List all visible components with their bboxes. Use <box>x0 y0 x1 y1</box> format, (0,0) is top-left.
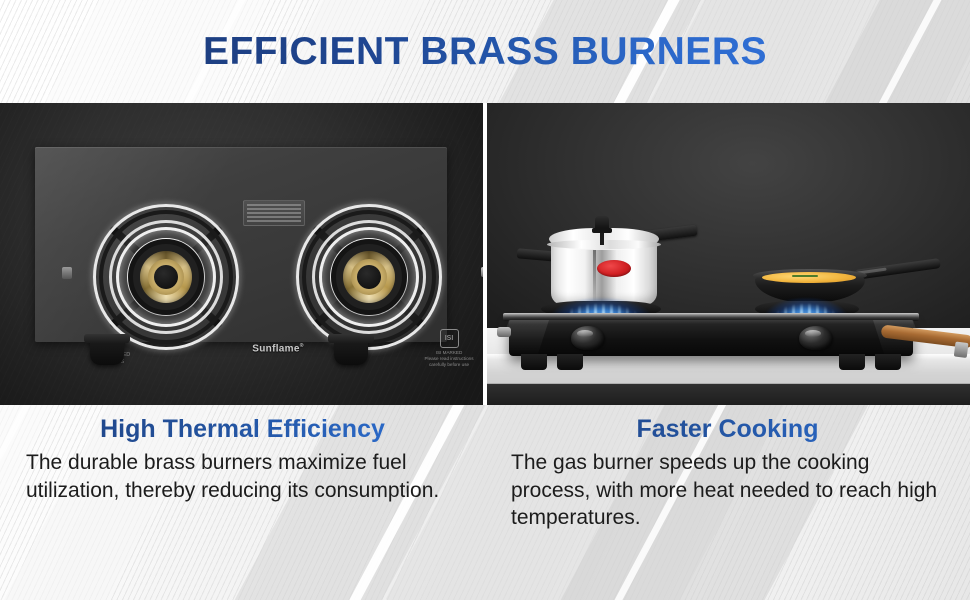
product-feature-banner: EFFICIENT BRASS BURNERS <box>0 0 970 600</box>
control-knob-left[interactable] <box>571 326 605 350</box>
sunflame-brand-logo: Sunflame® <box>243 343 313 354</box>
stove-leg <box>839 354 865 370</box>
product-image-strip: 8∘ TEMPERED GLASS Sunflame® ISI ISI MARK… <box>0 103 970 405</box>
brand-name: Sunflame <box>252 343 299 354</box>
isi-mark-icon: ISI <box>440 329 459 348</box>
stove-glass-top: 8∘ TEMPERED GLASS Sunflame® ISI ISI MARK… <box>35 147 447 342</box>
label-text-line <box>247 208 301 210</box>
stove-leg <box>521 354 547 370</box>
feature-description: The durable brass burners maximize fuel … <box>18 449 467 504</box>
feature-heading: High Thermal Efficiency <box>18 415 467 444</box>
burner-center-port <box>154 265 178 289</box>
herb-garnish <box>792 275 818 277</box>
label-text-line <box>247 216 301 218</box>
label-text-line <box>247 220 301 222</box>
cooker-rim <box>547 240 661 249</box>
feature-block-high-thermal-efficiency: High Thermal Efficiency The durable bras… <box>0 405 485 600</box>
cooker-vent-stem <box>600 231 604 245</box>
trademark-symbol: ® <box>300 343 304 349</box>
pressure-cooker <box>545 222 663 305</box>
product-photo-stove-in-use <box>487 103 970 405</box>
omelette-food <box>762 272 856 283</box>
cooker-pressure-weight <box>595 216 609 232</box>
brass-burner-left <box>90 201 242 353</box>
stove-inlet-fitting <box>497 327 511 337</box>
feature-block-faster-cooking: Faster Cooking The gas burner speeds up … <box>485 405 970 600</box>
isi-instruction-badge: ISI ISI MARKED Please read instructions … <box>413 329 483 369</box>
feature-description: The gas burner speeds up the cooking pro… <box>503 449 952 532</box>
feature-copy-row: High Thermal Efficiency The durable bras… <box>0 405 970 600</box>
burner-center-port <box>357 265 381 289</box>
hose-connector-nut <box>954 342 969 358</box>
headline-container: EFFICIENT BRASS BURNERS <box>0 0 970 103</box>
stove-leg <box>334 339 368 365</box>
stove-leg <box>875 354 901 370</box>
cooker-body-seam <box>593 244 596 302</box>
warning-label-sticker <box>243 200 305 226</box>
stove-leg <box>557 354 583 370</box>
banner-headline: EFFICIENT BRASS BURNERS <box>203 30 767 74</box>
stove-leg-cap <box>84 334 130 343</box>
control-knob-right[interactable] <box>799 326 833 350</box>
label-text-line <box>247 204 301 206</box>
product-photo-glass-top-stove: 8∘ TEMPERED GLASS Sunflame® ISI ISI MARK… <box>0 103 483 405</box>
stove-side-fitting-left <box>62 267 72 279</box>
feature-heading: Faster Cooking <box>503 415 952 444</box>
stove-body <box>509 320 913 356</box>
instruction-line2: carefully before use <box>413 362 483 368</box>
stove-leg <box>90 339 124 365</box>
cooker-brand-badge <box>597 260 631 277</box>
stove-leg-cap <box>328 334 374 343</box>
label-text-line <box>247 212 301 214</box>
